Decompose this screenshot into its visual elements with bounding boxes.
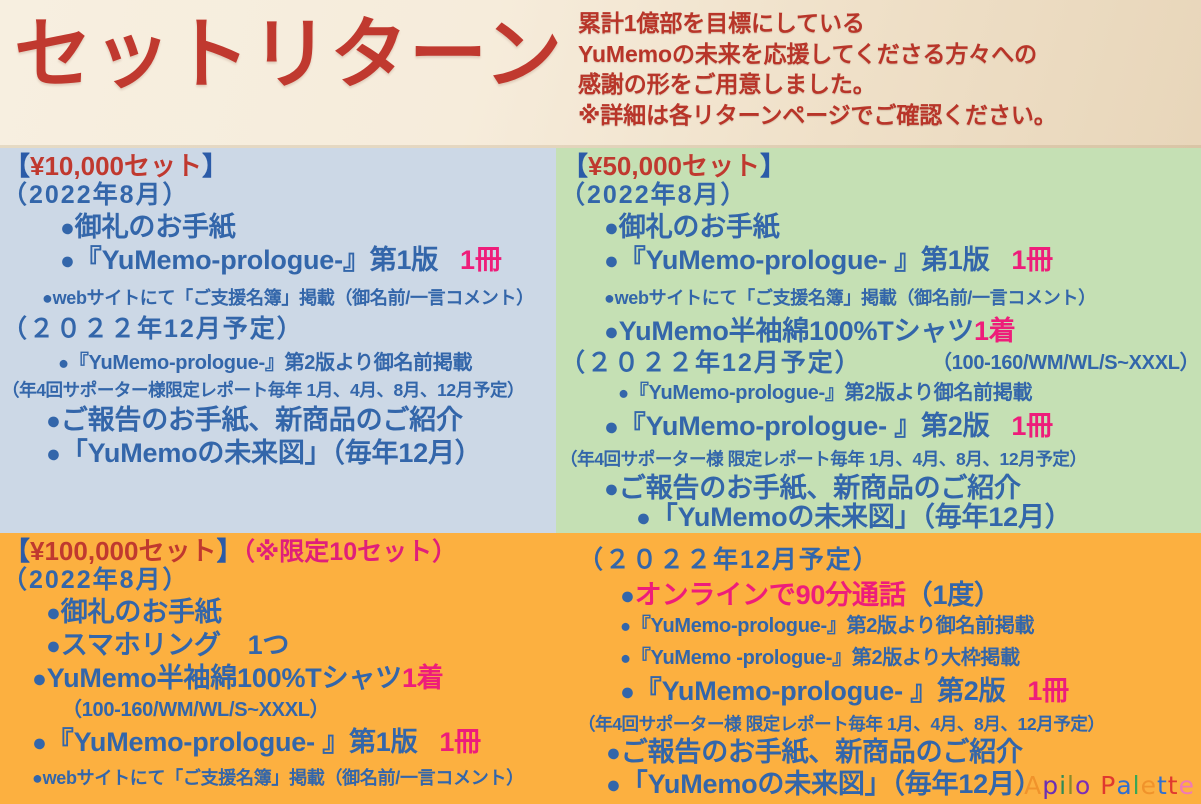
tier-50000-item-tshirt: ●YuMemo半袖綿100%Tシャツ1着	[604, 315, 1016, 349]
brand-logo-letter: t	[1168, 771, 1179, 800]
bullet-icon: ●	[32, 730, 47, 757]
tier-10000-item-thankyou-letter: ●御礼のお手紙	[60, 211, 236, 245]
item-label: 「YuMemoの未来図」（毎年12月）	[61, 438, 482, 468]
item-label: 『YuMemo-prologue-』第2版より御名前掲載	[629, 382, 1032, 404]
tier-50000-tshirt-size-note: （100-160/WM/WL/S~XXXL）	[932, 351, 1199, 376]
tier-100000-item-book-v2-name: ●『YuMemo-prologue-』第2版より御名前掲載	[620, 613, 1034, 639]
bullet-icon: ●	[32, 666, 47, 693]
bracket-open: 【	[562, 151, 588, 181]
tier-100000-item-future-map: ●「YuMemoの未来図」（毎年12月）	[606, 768, 1042, 802]
item-quantity: 1着	[402, 663, 444, 693]
item-label: 御礼のお手紙	[75, 212, 236, 242]
item-label: 『YuMemo-prologue- 』第2版	[619, 411, 990, 441]
tier-100000-item-tshirt: ●YuMemo半袖綿100%Tシャツ1着	[32, 662, 444, 696]
bracket-open: 【	[4, 151, 30, 181]
page-title: セットリターン	[14, 12, 563, 96]
brand-logo-letter: a	[1116, 771, 1132, 800]
tier-10000-report-note: （年4回サポーター様限定レポート毎年 1月、4月、8月、12月予定）	[2, 379, 524, 402]
tier-10000-item-book-v2-name: ●『YuMemo-prologue-』第2版より御名前掲載	[58, 350, 472, 376]
tier-100000-item-website-listing: ●webサイトにて「ご支援名簿」掲載（御名前/一言コメント）	[32, 766, 524, 790]
item-label: 『YuMemo-prologue- 』第1版	[47, 727, 418, 757]
bullet-icon: ●	[606, 740, 621, 767]
bracket-open: 【	[4, 536, 30, 566]
bullet-icon: ●	[60, 248, 75, 275]
poster-header: セットリターン 累計1億部を目標にしている YuMemoの未来を応援してくださる…	[0, 0, 1201, 148]
bullet-icon: ●	[636, 505, 651, 532]
tier-100000-item-book-v2: ●『YuMemo-prologue- 』第2版 1冊	[620, 675, 1069, 709]
tier-100000-amount: ¥100,000セット	[30, 536, 216, 566]
tier-50000-amount: ¥50,000セット	[588, 151, 760, 181]
tier-100000-heading: 【¥100,000セット】（※限定10セット）	[4, 536, 457, 567]
bullet-icon: ●	[604, 476, 619, 503]
brand-logo-letter: l	[1133, 771, 1141, 800]
tier-10000-item-book-v1: ●『YuMemo-prologue-』第1版 1冊	[60, 244, 502, 278]
return-tiers-poster: セットリターン 累計1億部を目標にしている YuMemoの未来を応援してくださる…	[0, 0, 1201, 804]
tier-10000-item-website-listing: ●webサイトにて「ご支援名簿」掲載（御名前/一言コメント）	[42, 286, 534, 310]
item-label: 「YuMemoの未来図」（毎年12月）	[651, 502, 1072, 532]
tier-100000-item-smartphone-ring: ●スマホリング 1つ	[46, 629, 289, 663]
bullet-icon: ●	[46, 408, 61, 435]
header-note-line-2: YuMemoの未来を応援してくださる方々への	[578, 39, 1198, 70]
item-label-suffix: （1度）	[906, 580, 1001, 610]
item-label: ご報告のお手紙、新商品のご紹介	[61, 405, 463, 435]
tier-100000-item-online-call: ●オンラインで90分通話（1度）	[620, 579, 1001, 613]
item-label: 『YuMemo-prologue-』第2版より御名前掲載	[631, 615, 1034, 637]
bullet-icon: ●	[58, 352, 69, 373]
bullet-icon: ●	[620, 647, 631, 668]
bullet-icon: ●	[60, 215, 75, 242]
item-label: 御礼のお手紙	[61, 597, 222, 627]
tier-panel-10000: 【¥10,000セット】 （2022年8月） ●御礼のお手紙 ●『YuMemo-…	[0, 148, 556, 533]
tier-100000-item-book-v1: ●『YuMemo-prologue- 』第1版 1冊	[32, 726, 481, 760]
bullet-icon: ●	[604, 319, 619, 346]
tier-10000-item-report-letter: ●ご報告のお手紙、新商品のご紹介	[46, 404, 463, 438]
tier-10000-amount: ¥10,000セット	[30, 151, 202, 181]
item-label: 『YuMemo-prologue- 』第1版	[619, 245, 990, 275]
tier-panel-100000: 【¥100,000セット】（※限定10セット） （2022年8月） ●御礼のお手…	[0, 533, 1201, 804]
brand-logo-letter: A	[1024, 771, 1042, 800]
brand-logo-letter: t	[1157, 771, 1168, 800]
item-label: YuMemo半袖綿100%Tシャツ	[47, 663, 402, 693]
tier-50000-date-december: （２０２２年12月予定）	[560, 348, 862, 379]
tier-50000-heading: 【¥50,000セット】	[562, 151, 786, 181]
item-quantity: 1冊	[439, 727, 481, 757]
bullet-icon: ●	[604, 248, 619, 275]
header-note-line-4: ※詳細は各リターンページでご確認ください。	[578, 100, 1198, 131]
bullet-icon: ●	[46, 600, 61, 627]
tier-50000-item-website-listing: ●webサイトにて「ご支援名簿」掲載（御名前/一言コメント）	[604, 286, 1096, 310]
bullet-icon: ●	[618, 382, 629, 403]
tier-100000-item-book-v2-large-frame: ●『YuMemo -prologue-』第2版より大枠掲載	[620, 645, 1020, 671]
brand-logo-letter: e	[1141, 771, 1157, 800]
bullet-icon: ●	[620, 615, 631, 636]
bullet-icon: ●	[606, 772, 621, 799]
bullet-icon: ●	[46, 441, 61, 468]
tier-100000-limit-note: （※限定10セット）	[242, 538, 457, 566]
item-quantity: 1冊	[1011, 411, 1053, 441]
bracket-close: 】	[760, 151, 786, 181]
item-label: YuMemo半袖綿100%Tシャツ	[619, 316, 974, 346]
item-label: 『YuMemo-prologue-』第1版	[75, 245, 438, 275]
item-label: ご報告のお手紙、新商品のご紹介	[619, 473, 1021, 503]
brand-logo-letter: i	[1059, 771, 1067, 800]
item-quantity: 1冊	[460, 245, 502, 275]
item-label: スマホリング 1つ	[61, 630, 289, 660]
tier-10000-item-future-map: ●「YuMemoの未来図」（毎年12月）	[46, 437, 482, 471]
tier-50000-report-note: （年4回サポーター様 限定レポート毎年 1月、4月、8月、12月予定）	[560, 448, 1087, 471]
item-label-highlight: オンラインで90分通話	[635, 580, 906, 610]
header-note: 累計1億部を目標にしている YuMemoの未来を応援してくださる方々への 感謝の…	[578, 8, 1198, 130]
tier-10000-date-december: （２０２２年12月予定）	[2, 314, 304, 345]
brand-logo-letter	[1091, 771, 1100, 800]
tier-50000-item-future-map: ●「YuMemoの未来図」（毎年12月）	[636, 501, 1072, 533]
item-label: 『YuMemo-prologue- 』第2版	[635, 676, 1006, 706]
tier-50000-item-book-v1: ●『YuMemo-prologue- 』第1版 1冊	[604, 244, 1053, 278]
tier-50000-date-august: （2022年8月）	[560, 180, 748, 211]
brand-logo-letter: l	[1067, 771, 1075, 800]
tier-100000-report-note: （年4回サポーター様 限定レポート毎年 1月、4月、8月、12月予定）	[578, 713, 1105, 736]
tier-100000-item-thankyou-letter: ●御礼のお手紙	[46, 596, 222, 630]
item-quantity: 1冊	[1011, 245, 1053, 275]
brand-logo-letter: e	[1179, 771, 1195, 800]
header-note-line-1: 累計1億部を目標にしている	[578, 8, 1198, 39]
item-quantity: 1冊	[1027, 676, 1069, 706]
item-label: ご報告のお手紙、新商品のご紹介	[621, 737, 1023, 767]
bullet-icon: ●	[620, 583, 635, 610]
tier-100000-tshirt-size-note: （100-160/WM/WL/S~XXXL）	[62, 698, 329, 723]
item-label: 御礼のお手紙	[619, 212, 780, 242]
tier-100000-item-report-letter: ●ご報告のお手紙、新商品のご紹介	[606, 736, 1023, 770]
bullet-icon: ●	[620, 679, 635, 706]
bullet-icon: ●	[46, 633, 61, 660]
bracket-close: 】	[202, 151, 228, 181]
item-label: 「YuMemoの未来図」（毎年12月）	[621, 769, 1042, 799]
bullet-icon: ●	[604, 215, 619, 242]
brand-logo-letter: p	[1042, 771, 1059, 800]
tier-50000-item-thankyou-letter: ●御礼のお手紙	[604, 211, 780, 245]
brand-logo: Apilo Palette	[1024, 771, 1195, 800]
item-quantity: 1着	[974, 316, 1016, 346]
tier-10000-heading: 【¥10,000セット】	[4, 151, 228, 181]
tier-100000-date-august: （2022年8月）	[2, 565, 190, 596]
tier-100000-date-december: （２０２２年12月予定）	[578, 545, 880, 576]
item-label: 『YuMemo -prologue-』第2版より大枠掲載	[631, 647, 1020, 669]
bracket-close: 】	[216, 536, 242, 566]
brand-logo-letter: o	[1075, 771, 1091, 800]
tier-panel-50000: 【¥50,000セット】 （2022年8月） ●御礼のお手紙 ●『YuMemo-…	[556, 148, 1201, 533]
item-label: 『YuMemo-prologue-』第2版より御名前掲載	[69, 352, 472, 374]
header-note-line-3: 感謝の形をご用意しました。	[578, 69, 1198, 100]
tier-50000-item-book-v2-name: ●『YuMemo-prologue-』第2版より御名前掲載	[618, 380, 1032, 406]
tier-10000-date-august: （2022年8月）	[2, 180, 190, 211]
tier-50000-item-book-v2: ●『YuMemo-prologue- 』第2版 1冊	[604, 410, 1053, 444]
bullet-icon: ●	[604, 414, 619, 441]
brand-logo-letter: P	[1100, 771, 1116, 800]
